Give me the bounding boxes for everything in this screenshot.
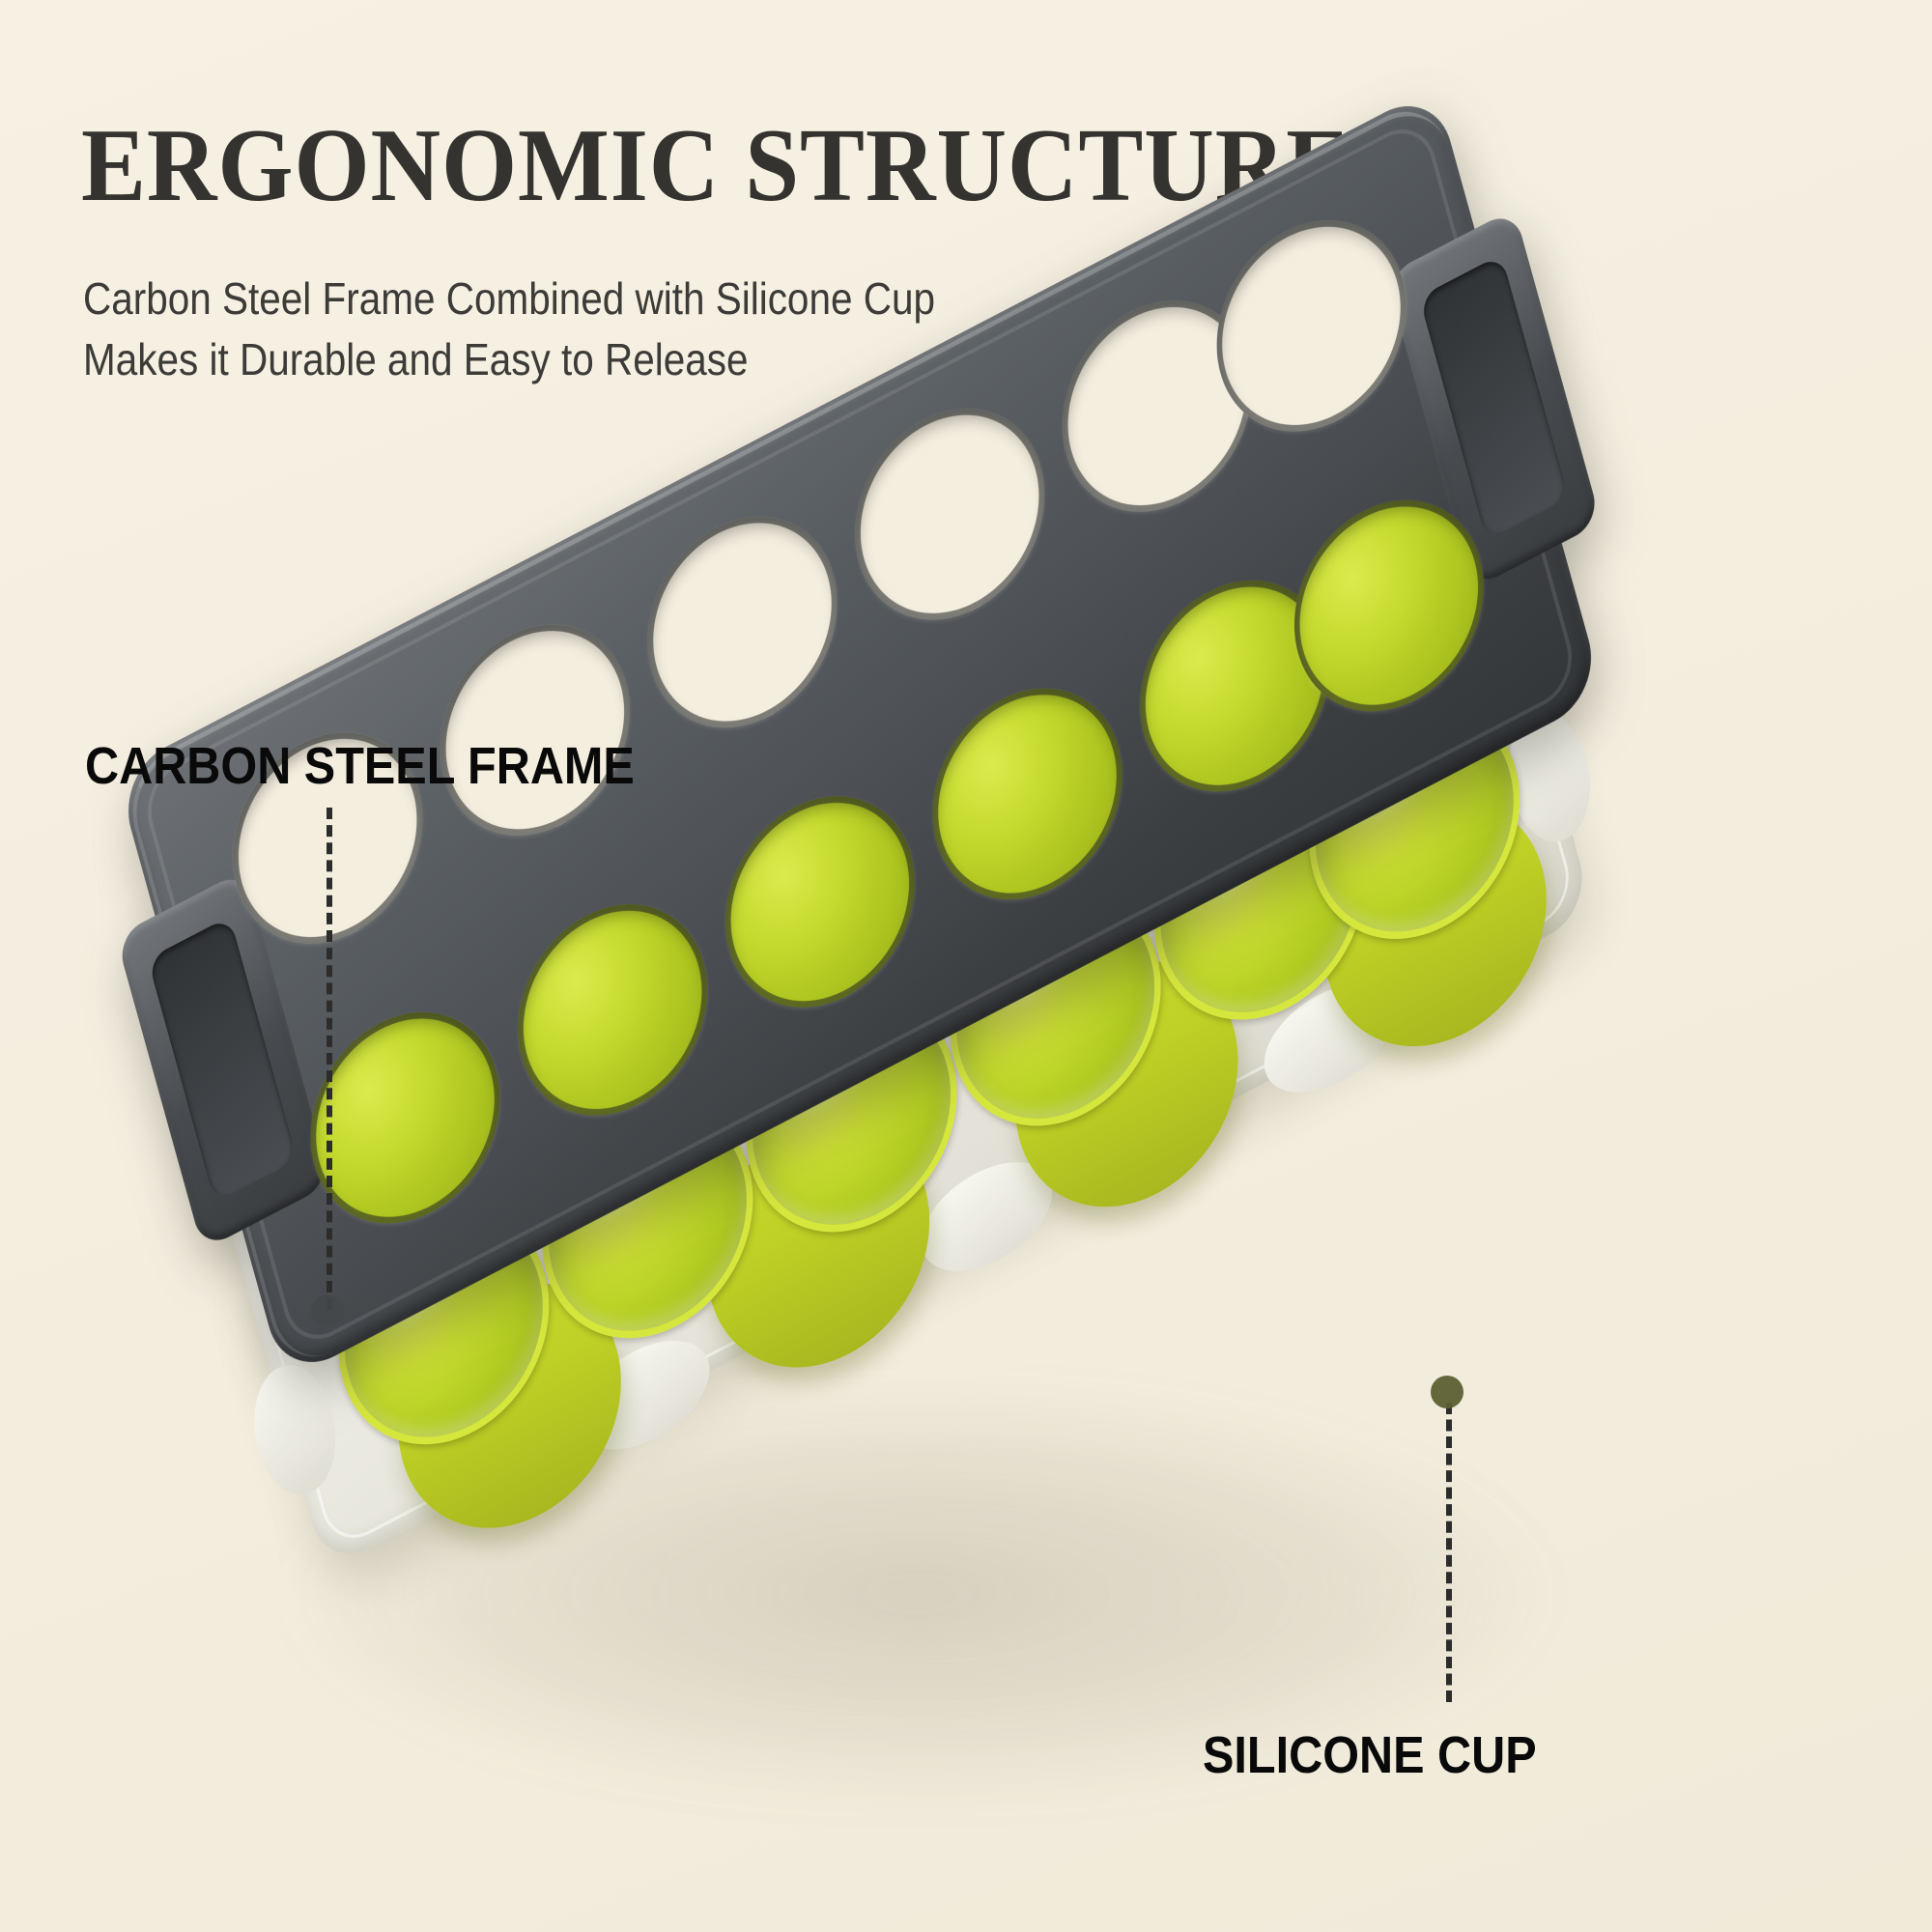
- infographic-canvas: ERGONOMIC STRUCTURE Carbon Steel Frame C…: [0, 0, 1932, 1932]
- callout-label-silicone-cup: SILICONE CUP: [1203, 1725, 1537, 1785]
- leader-endpoint-dot-silicone-cup: [1431, 1376, 1463, 1408]
- leader-line-silicone-cup: [1446, 1403, 1452, 1702]
- product-illustration: [0, 367, 1932, 1874]
- leader-line-carbon-steel-frame: [327, 808, 332, 1310]
- callout-label-carbon-steel-frame: CARBON STEEL FRAME: [85, 736, 635, 796]
- leader-endpoint-dot-carbon-steel-frame: [311, 1294, 344, 1327]
- page-title: ERGONOMIC STRUCTURE: [81, 114, 1351, 218]
